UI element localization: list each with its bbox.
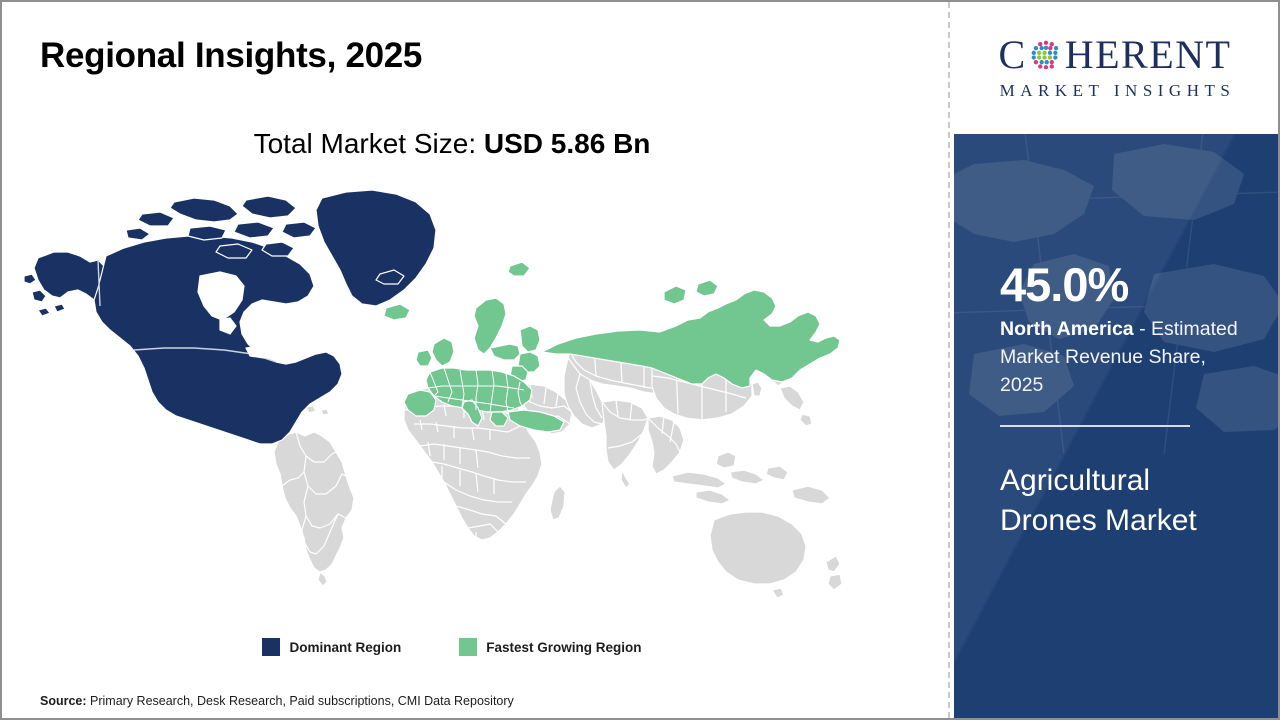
map-region-dominant	[24, 190, 436, 444]
logo-tagline: MARKET INSIGHTS	[995, 81, 1236, 101]
logo-letter-c: C	[999, 35, 1027, 75]
page-title: Regional Insights, 2025	[40, 36, 422, 76]
panel-divider	[1000, 425, 1190, 427]
total-market-size-value: USD 5.86 Bn	[484, 128, 651, 159]
stat-value: 45.0%	[1000, 260, 1246, 309]
legend-label-dominant: Dominant Region	[289, 640, 401, 655]
stat-panel-content: 45.0% North America - Estimated Market R…	[1000, 260, 1246, 541]
legend-item-dominant: Dominant Region	[262, 638, 401, 656]
total-market-size-label: Total Market Size:	[254, 128, 484, 159]
world-map-svg	[24, 180, 844, 620]
dotted-globe-icon	[1028, 37, 1064, 73]
brand-logo: C	[952, 2, 1278, 134]
square-swatch-icon	[459, 638, 477, 656]
logo-letters-herent: HERENT	[1065, 35, 1232, 75]
world-map	[24, 180, 844, 620]
total-market-size: Total Market Size: USD 5.86 Bn	[2, 128, 902, 160]
source-text: Primary Research, Desk Research, Paid su…	[87, 694, 514, 708]
legend-item-fastest-growing: Fastest Growing Region	[459, 638, 641, 656]
map-legend: Dominant Region Fastest Growing Region	[2, 638, 902, 656]
source-note: Source: Primary Research, Desk Research,…	[40, 694, 514, 708]
logo-wordmark: C	[999, 35, 1232, 75]
main-content-area: Regional Insights, 2025 Total Market Siz…	[2, 2, 950, 718]
market-name: Agricultural Drones Market	[1000, 461, 1246, 541]
square-swatch-icon	[262, 638, 280, 656]
sidebar: C	[952, 2, 1278, 718]
infographic-page: Regional Insights, 2025 Total Market Siz…	[0, 0, 1280, 720]
vertical-dashed-divider	[948, 2, 950, 718]
source-label: Source:	[40, 694, 87, 708]
stat-panel: 45.0% North America - Estimated Market R…	[954, 134, 1278, 718]
stat-caption-region: North America	[1000, 318, 1134, 340]
legend-label-fastest-growing: Fastest Growing Region	[486, 640, 641, 655]
stat-caption: North America - Estimated Market Revenue…	[1000, 316, 1246, 399]
